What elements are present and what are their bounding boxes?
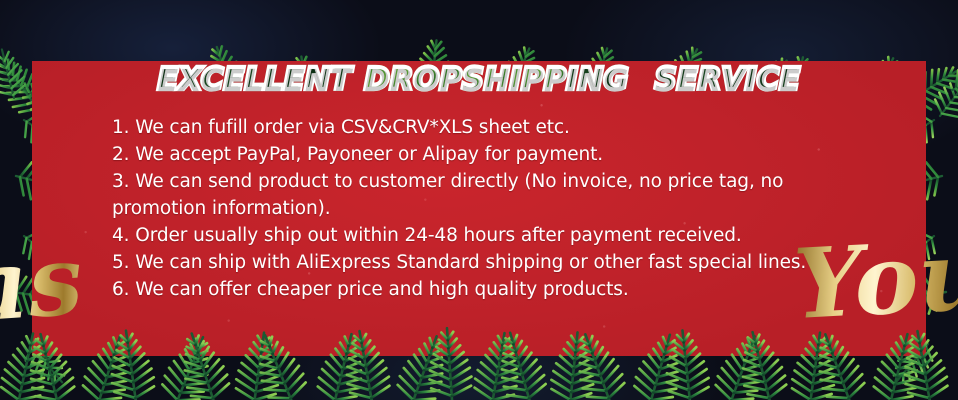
service-term-3: 3. We can send product to customer direc… (112, 168, 872, 222)
gold-script-left: as (0, 232, 85, 336)
heading-word-ipp: IPP (510, 62, 567, 97)
service-terms-list: 1. We can fufill order via CSV&CRV*XLS s… (112, 114, 872, 303)
service-term-6: 6. We can offer cheaper price and high q… (112, 276, 872, 303)
christmas-dropshipping-banner: as You EXCELLENTDROPSHIPPINGSERVICE 1. W… (0, 0, 958, 400)
heading-word-ing: ING (566, 62, 628, 97)
service-term-5: 5. We can ship with AliExpress Standard … (112, 249, 872, 276)
service-term-1: 1. We can fufill order via CSV&CRV*XLS s… (112, 114, 872, 141)
heading-word-drop: DROP (365, 62, 463, 97)
heading-word-service: SERVICE (655, 62, 801, 97)
heading-word-sh: SH (462, 62, 510, 97)
service-term-4: 4. Order usually ship out within 24-48 h… (112, 222, 872, 249)
heading-word-excellent: EXCELLENT (158, 62, 352, 97)
service-term-2: 2. We accept PayPal, Payoneer or Alipay … (112, 141, 872, 168)
banner-heading: EXCELLENTDROPSHIPPINGSERVICE (0, 62, 958, 97)
